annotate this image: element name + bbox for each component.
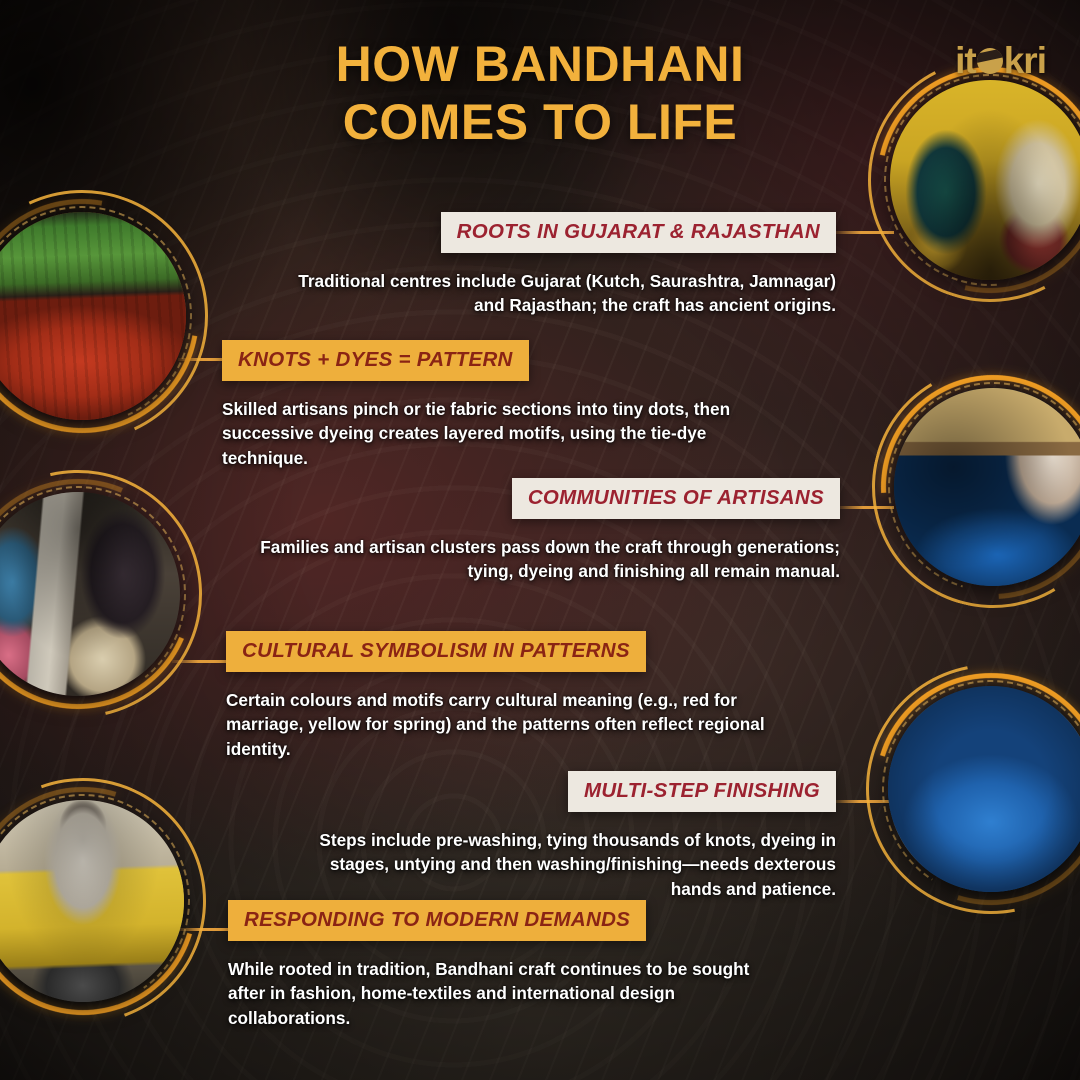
photo-image [0,492,180,696]
photo-image [0,212,186,420]
logo-text-after: kri [1004,40,1046,82]
photo-disc [0,212,186,420]
section-body-finishing: Steps include pre-washing, tying thousan… [300,828,836,901]
section-body-modern: While rooted in tradition, Bandhani craf… [228,957,774,1030]
title-line-1: HOW BANDHANI [0,36,1080,94]
chip-wrap: ROOTS IN GUJARAT & RAJASTHAN [280,212,836,253]
section-modern: RESPONDING TO MODERN DEMANDS While roote… [228,900,774,1030]
section-chip-symbolism[interactable]: CULTURAL SYMBOLISM IN PATTERNS [226,631,646,672]
chip-wrap: COMMUNITIES OF ARTISANS [240,478,840,519]
logo-text-before: it [955,40,976,82]
photo-disc [888,686,1080,892]
photo-disc [894,388,1080,586]
section-body-communities: Families and artisan clusters pass down … [240,535,840,584]
photo-disc [0,492,180,696]
logo-circle-icon [977,48,1003,74]
photo-image [888,686,1080,892]
photo-disc [0,800,184,1002]
chip-wrap: KNOTS + DYES = PATTERN [222,340,742,381]
page-title: HOW BANDHANI COMES TO LIFE [0,36,1080,151]
section-knots: KNOTS + DYES = PATTERN Skilled artisans … [222,340,742,470]
title-line-2: COMES TO LIFE [0,94,1080,152]
section-body-symbolism: Certain colours and motifs carry cultura… [226,688,766,761]
section-body-roots: Traditional centres include Gujarat (Kut… [280,269,836,318]
photo-hands-tying-red-fabric [0,212,186,420]
section-chip-communities[interactable]: COMMUNITIES OF ARTISANS [512,478,840,519]
chip-wrap: MULTI-STEP FINISHING [300,771,836,812]
chip-wrap: RESPONDING TO MODERN DEMANDS [228,900,774,941]
section-communities: COMMUNITIES OF ARTISANS Families and art… [240,478,840,584]
section-symbolism: CULTURAL SYMBOLISM IN PATTERNS Certain c… [226,631,766,761]
section-roots: ROOTS IN GUJARAT & RAJASTHAN Traditional… [280,212,836,318]
photo-women-tying-grey-pillar [0,492,180,696]
section-chip-knots[interactable]: KNOTS + DYES = PATTERN [222,340,529,381]
brand-logo-itokri[interactable]: it kri [955,40,1046,82]
infographic-poster: HOW BANDHANI COMES TO LIFE it kri [0,0,1080,1080]
section-body-knots: Skilled artisans pinch or tie fabric sec… [222,397,742,470]
photo-dye-vat-yellow-cloth [888,686,1080,892]
photo-man-lifting-yellow-cloth [0,800,184,1002]
section-chip-roots[interactable]: ROOTS IN GUJARAT & RAJASTHAN [441,212,836,253]
section-chip-finishing[interactable]: MULTI-STEP FINISHING [568,771,836,812]
photo-dyer-blue-tub [894,388,1080,586]
photo-image [894,388,1080,586]
chip-wrap: CULTURAL SYMBOLISM IN PATTERNS [226,631,766,672]
section-finishing: MULTI-STEP FINISHING Steps include pre-w… [300,771,836,901]
section-chip-modern[interactable]: RESPONDING TO MODERN DEMANDS [228,900,646,941]
photo-image [0,800,184,1002]
